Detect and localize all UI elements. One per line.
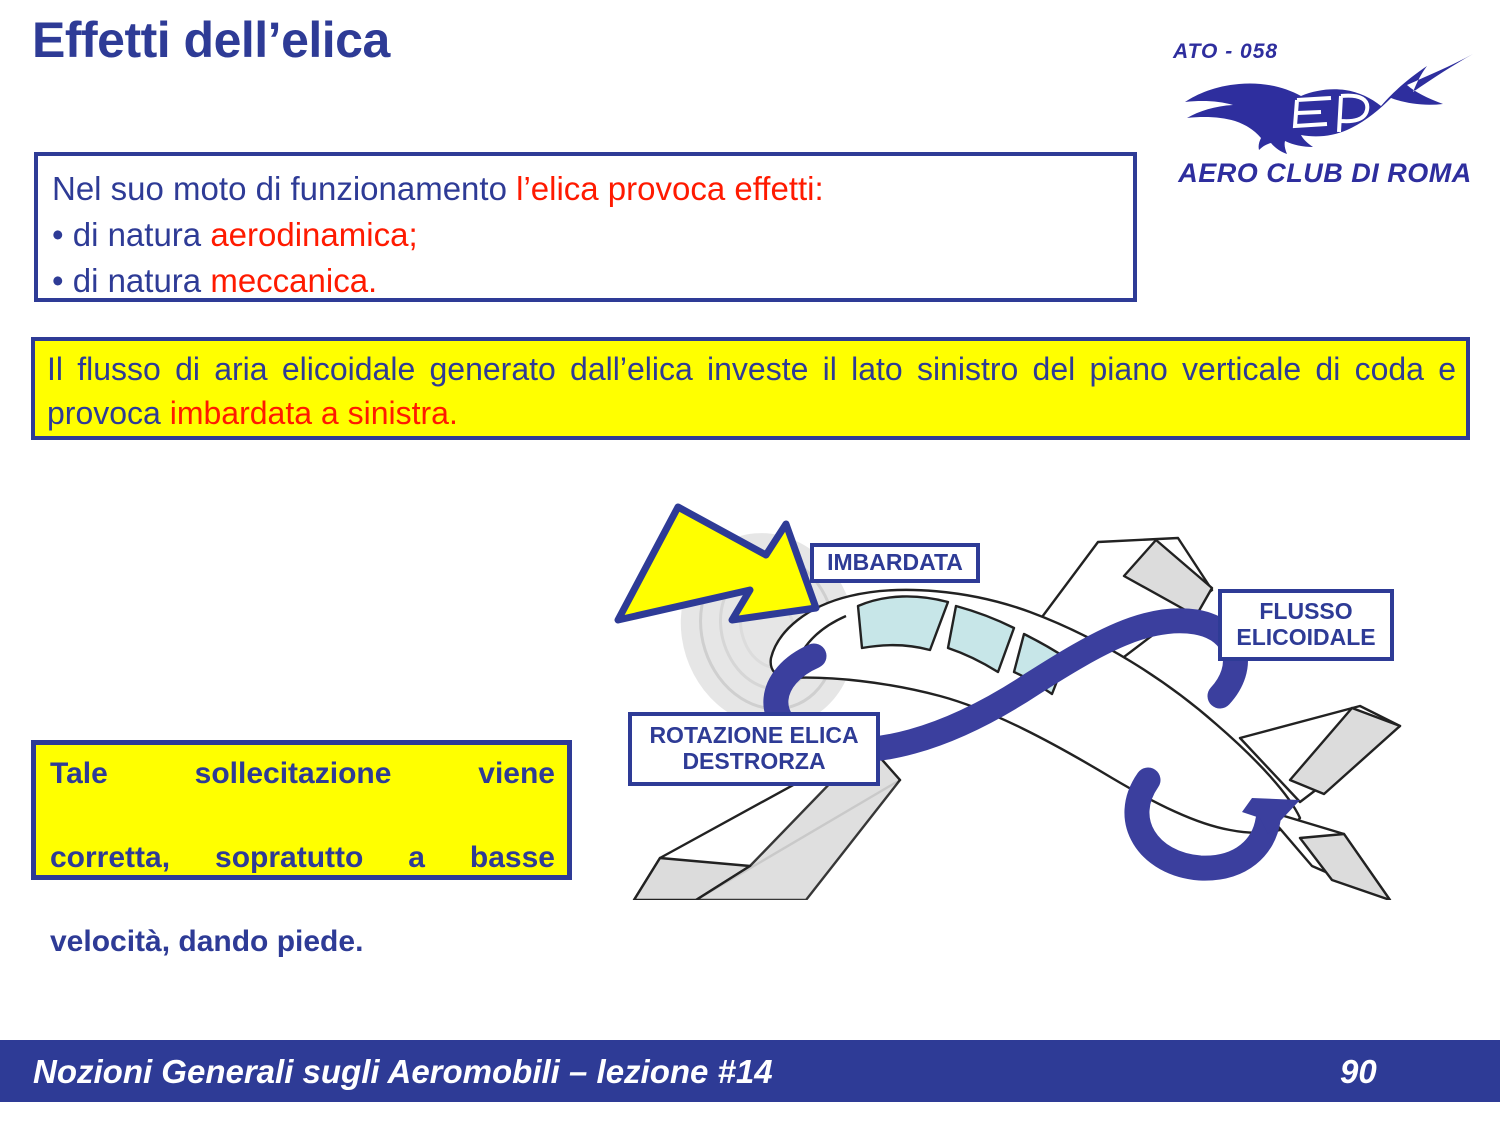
aero-club-logo: ATO - 058 AERO CLUB DI ROMA: [1155, 18, 1485, 203]
intro-bullet1-red: aerodinamica;: [210, 216, 417, 253]
correction-highlight-box: Tale sollecitazione viene corretta, sopr…: [31, 740, 572, 880]
aircraft-diagram-svg: [600, 480, 1480, 900]
intro-bullet-1: • di natura aerodinamica;: [52, 212, 1125, 258]
callout-flusso-line2: ELICOIDALE: [1236, 625, 1375, 651]
intro-line-1: Nel suo moto di funzionamento l’elica pr…: [52, 166, 1125, 212]
page-title: Effetti dell’elica: [32, 14, 390, 67]
intro-bullet-2: • di natura meccanica.: [52, 258, 1125, 304]
footer-bar: Nozioni Generali sugli Aeromobili – lezi…: [0, 1040, 1500, 1102]
slide-root: Effetti dell’elica ATO - 058 AERO CLUB D…: [0, 0, 1500, 1125]
flow-text-red: imbardata a sinistra.: [170, 395, 458, 431]
footer-course-label: Nozioni Generali sugli Aeromobili – lezi…: [33, 1053, 773, 1091]
callout-flusso-elicoidale: FLUSSO ELICOIDALE: [1218, 589, 1394, 661]
intro-bullet2-red: meccanica.: [210, 262, 377, 299]
intro-line1-red: l’elica provoca effetti:: [516, 170, 824, 207]
footer-page-number: 90: [1340, 1053, 1377, 1091]
callout-flusso-line1: FLUSSO: [1236, 599, 1375, 625]
intro-bullet1-blue: • di natura: [52, 216, 210, 253]
intro-text-lines: Nel suo moto di funzionamento l’elica pr…: [52, 166, 1125, 304]
correction-line-2: corretta, sopratutto a basse: [50, 837, 555, 921]
intro-text-box: Nel suo moto di funzionamento l’elica pr…: [34, 152, 1137, 302]
intro-bullet2-blue: • di natura: [52, 262, 210, 299]
eagle-icon: [1155, 48, 1485, 158]
correction-line-1: Tale sollecitazione viene: [50, 753, 555, 837]
correction-line-3: velocità, dando piede.: [50, 921, 555, 963]
correction-text: Tale sollecitazione viene corretta, sopr…: [50, 753, 555, 963]
callout-rotazione-elica: ROTAZIONE ELICA DESTRORZA: [628, 712, 880, 786]
callout-imbardata: IMBARDATA: [810, 543, 980, 583]
flow-highlight-box: Il flusso di aria elicoidale generato da…: [31, 337, 1470, 440]
propeller-effects-diagram: [600, 480, 1480, 900]
org-name-label: AERO CLUB DI ROMA: [1165, 158, 1485, 189]
intro-line1-blue: Nel suo moto di funzionamento: [52, 170, 516, 207]
flow-text: Il flusso di aria elicoidale generato da…: [47, 347, 1456, 435]
